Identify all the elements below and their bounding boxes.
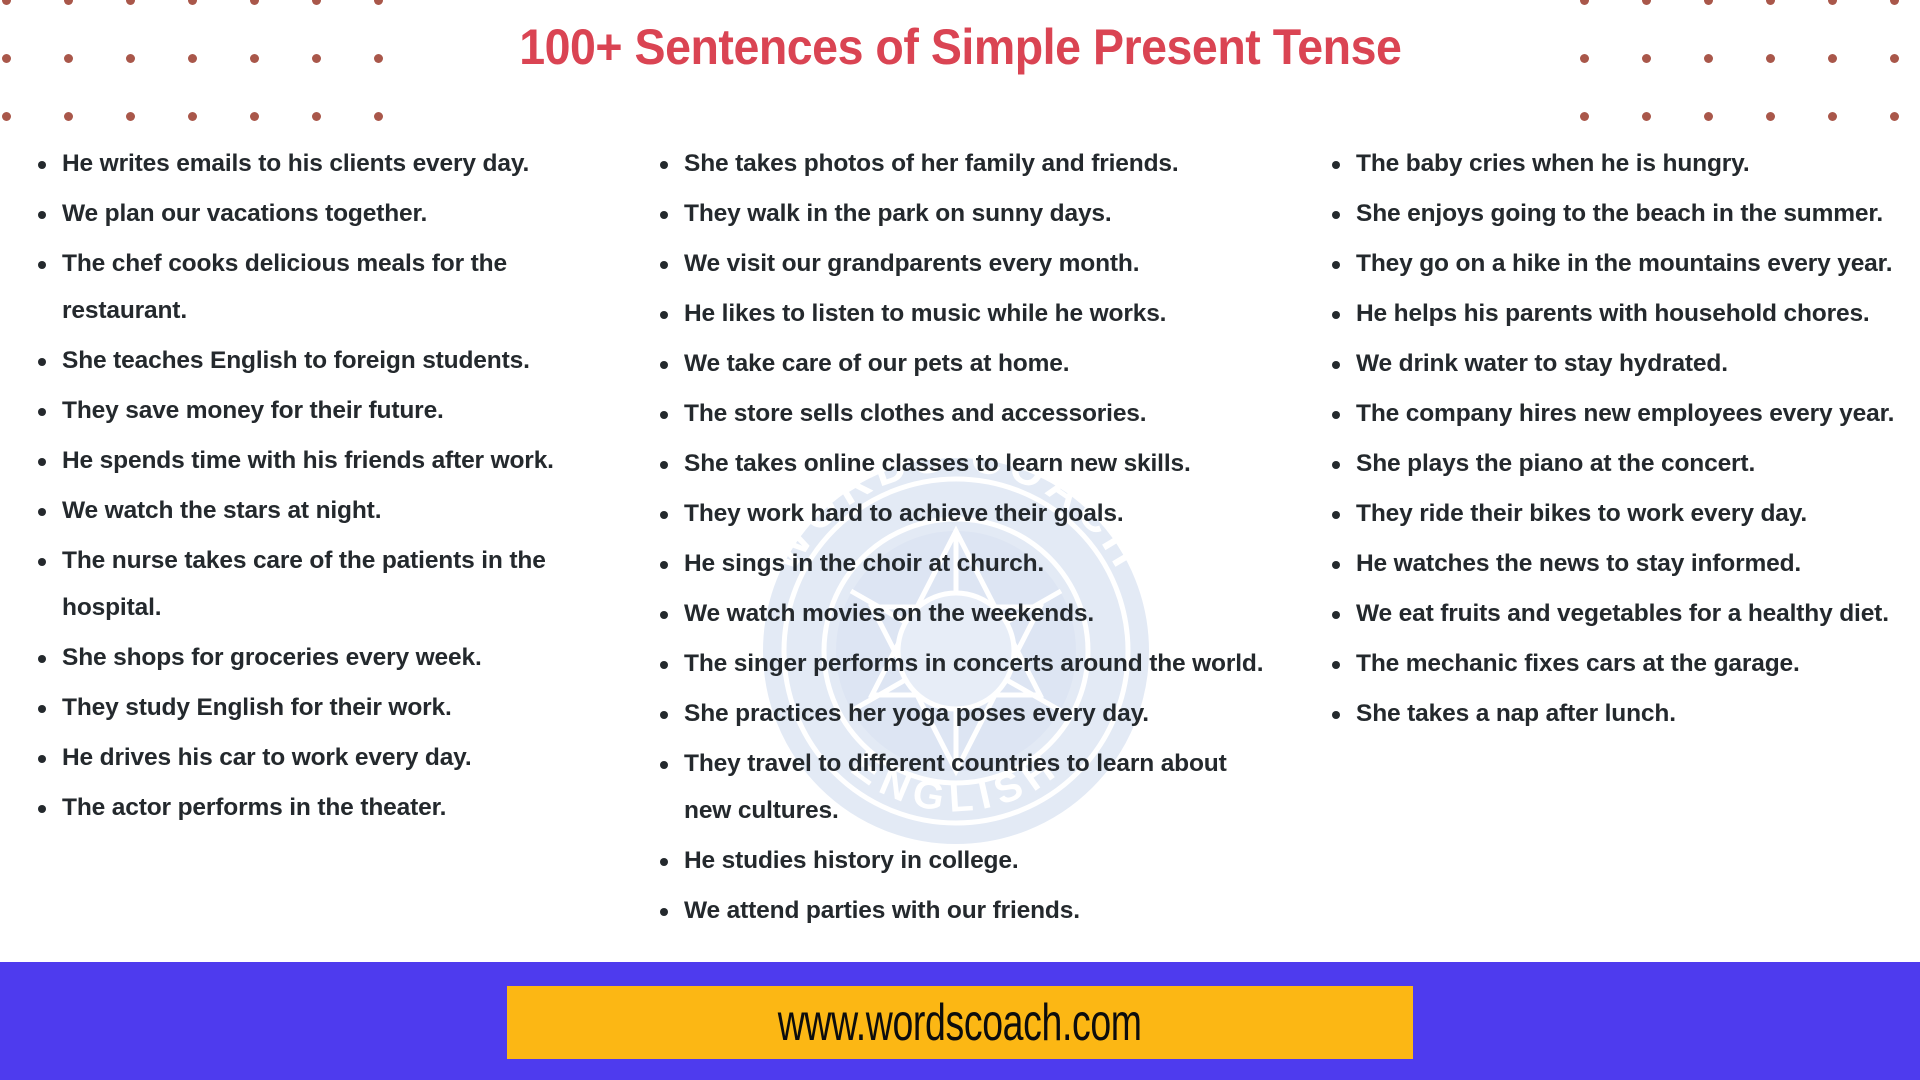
decorative-dot (1766, 112, 1775, 121)
page-title-container: 100+ Sentences of Simple Present Tense (0, 20, 1920, 75)
decorative-dot (1828, 0, 1837, 5)
list-item: He likes to listen to music while he wor… (646, 290, 1276, 337)
decorative-dot (1580, 112, 1589, 121)
poster-page: WORDS COACH ENGLISH 100+ Sentences of Si… (0, 0, 1920, 1080)
list-item: The mechanic fixes cars at the garage. (1318, 640, 1908, 687)
decorative-dot (2, 112, 11, 121)
list-item: The store sells clothes and accessories. (646, 390, 1276, 437)
sentence-column-1: He writes emails to his clients every da… (24, 140, 624, 834)
decorative-dot (2, 0, 11, 5)
list-item: He drives his car to work every day. (24, 734, 614, 781)
decorative-dot (1642, 112, 1651, 121)
list-item: She takes online classes to learn new sk… (646, 440, 1276, 487)
sentence-list-1: He writes emails to his clients every da… (24, 140, 614, 831)
list-item: She takes photos of her family and frien… (646, 140, 1276, 187)
list-item: The actor performs in the theater. (24, 784, 614, 831)
list-item: They go on a hike in the mountains every… (1318, 240, 1908, 287)
list-item: We drink water to stay hydrated. (1318, 340, 1908, 387)
decorative-dot (374, 0, 383, 5)
list-item: We visit our grandparents every month. (646, 240, 1276, 287)
list-item: He studies history in college. (646, 837, 1276, 884)
sentence-list-2: She takes photos of her family and frien… (646, 140, 1276, 934)
decorative-dot (188, 112, 197, 121)
decorative-dot (188, 0, 197, 5)
list-item: The nurse takes care of the patients in … (24, 537, 614, 631)
list-item: They save money for their future. (24, 387, 614, 434)
list-item: She enjoys going to the beach in the sum… (1318, 190, 1908, 237)
decorative-dot (64, 0, 73, 5)
decorative-dot (1828, 112, 1837, 121)
list-item: She plays the piano at the concert. (1318, 440, 1908, 487)
decorative-dot (1766, 0, 1775, 5)
list-item: We plan our vacations together. (24, 190, 614, 237)
decorative-dot (1704, 112, 1713, 121)
decorative-dot (312, 0, 321, 5)
list-item: He sings in the choir at church. (646, 540, 1276, 587)
list-item: She shops for groceries every week. (24, 634, 614, 681)
decorative-dot (1704, 0, 1713, 5)
list-item: They walk in the park on sunny days. (646, 190, 1276, 237)
decorative-dot (1580, 0, 1589, 5)
list-item: He writes emails to his clients every da… (24, 140, 614, 187)
decorative-dot (374, 112, 383, 121)
decorative-dot (1890, 112, 1899, 121)
list-item: We eat fruits and vegetables for a healt… (1318, 590, 1908, 637)
list-item: They travel to different countries to le… (646, 740, 1276, 834)
footer-bar: www.wordscoach.com (0, 962, 1920, 1080)
list-item: She teaches English to foreign students. (24, 337, 614, 384)
list-item: We attend parties with our friends. (646, 887, 1276, 934)
list-item: The baby cries when he is hungry. (1318, 140, 1908, 187)
list-item: She takes a nap after lunch. (1318, 690, 1908, 737)
list-item: He spends time with his friends after wo… (24, 437, 614, 484)
decorative-dot (312, 112, 321, 121)
list-item: The chef cooks delicious meals for the r… (24, 240, 614, 334)
list-item: They work hard to achieve their goals. (646, 490, 1276, 537)
sentence-column-3: The baby cries when he is hungry.She enj… (1318, 140, 1918, 740)
list-item: They study English for their work. (24, 684, 614, 731)
sentence-column-2: She takes photos of her family and frien… (646, 140, 1286, 937)
list-item: He watches the news to stay informed. (1318, 540, 1908, 587)
list-item: The company hires new employees every ye… (1318, 390, 1908, 437)
decorative-dot (126, 0, 135, 5)
list-item: We take care of our pets at home. (646, 340, 1276, 387)
list-item: She practices her yoga poses every day. (646, 690, 1276, 737)
sentence-list-3: The baby cries when he is hungry.She enj… (1318, 140, 1908, 737)
website-badge[interactable]: www.wordscoach.com (507, 986, 1413, 1059)
list-item: He helps his parents with household chor… (1318, 290, 1908, 337)
list-item: We watch the stars at night. (24, 487, 614, 534)
decorative-dot (250, 0, 259, 5)
list-item: We watch movies on the weekends. (646, 590, 1276, 637)
list-item: They ride their bikes to work every day. (1318, 490, 1908, 537)
decorative-dot (64, 112, 73, 121)
page-title: 100+ Sentences of Simple Present Tense (519, 20, 1401, 75)
website-url-text: www.wordscoach.com (778, 993, 1142, 1053)
decorative-dot (1642, 0, 1651, 5)
decorative-dot (126, 112, 135, 121)
decorative-dot (250, 112, 259, 121)
sentence-columns: He writes emails to his clients every da… (0, 140, 1920, 950)
list-item: The singer performs in concerts around t… (646, 640, 1276, 687)
decorative-dot (1890, 0, 1899, 5)
